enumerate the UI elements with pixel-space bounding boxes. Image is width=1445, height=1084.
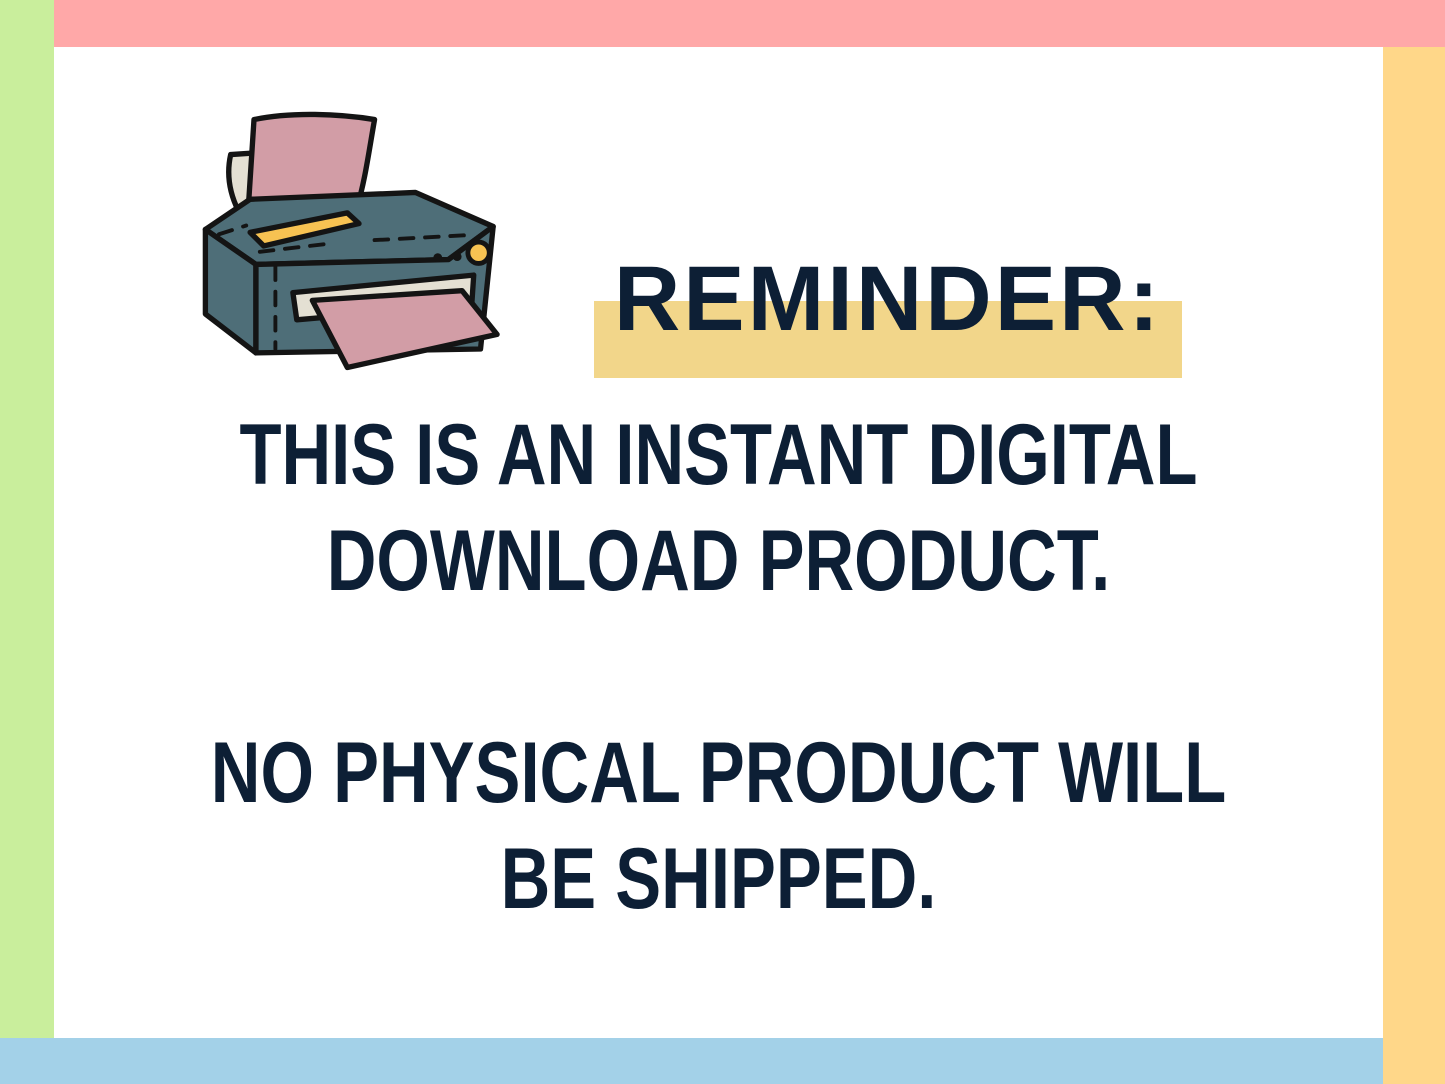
- body-line-1: THIS IS AN INSTANT DIGITAL: [187, 402, 1250, 508]
- printer-icon: [184, 94, 534, 394]
- body-line-spacer: [187, 614, 1250, 720]
- poster-content: REMINDER: THIS IS AN INSTANT DIGITAL DOW…: [54, 47, 1383, 1038]
- border-bar-bottom-blue: [0, 1038, 1383, 1084]
- border-bar-top-pink: [54, 0, 1445, 47]
- heading-block: REMINDER:: [594, 243, 1184, 393]
- poster-canvas: REMINDER: THIS IS AN INSTANT DIGITAL DOW…: [0, 0, 1445, 1084]
- body-line-2: DOWNLOAD PRODUCT.: [187, 508, 1250, 614]
- border-bar-right-yellow: [1383, 47, 1445, 1084]
- body-copy: THIS IS AN INSTANT DIGITAL DOWNLOAD PROD…: [187, 402, 1250, 932]
- page-title: REMINDER:: [594, 243, 1182, 355]
- body-line-3: NO PHYSICAL PRODUCT WILL: [187, 720, 1250, 826]
- body-line-4: BE SHIPPED.: [187, 826, 1250, 932]
- border-bar-left-green: [0, 0, 54, 1038]
